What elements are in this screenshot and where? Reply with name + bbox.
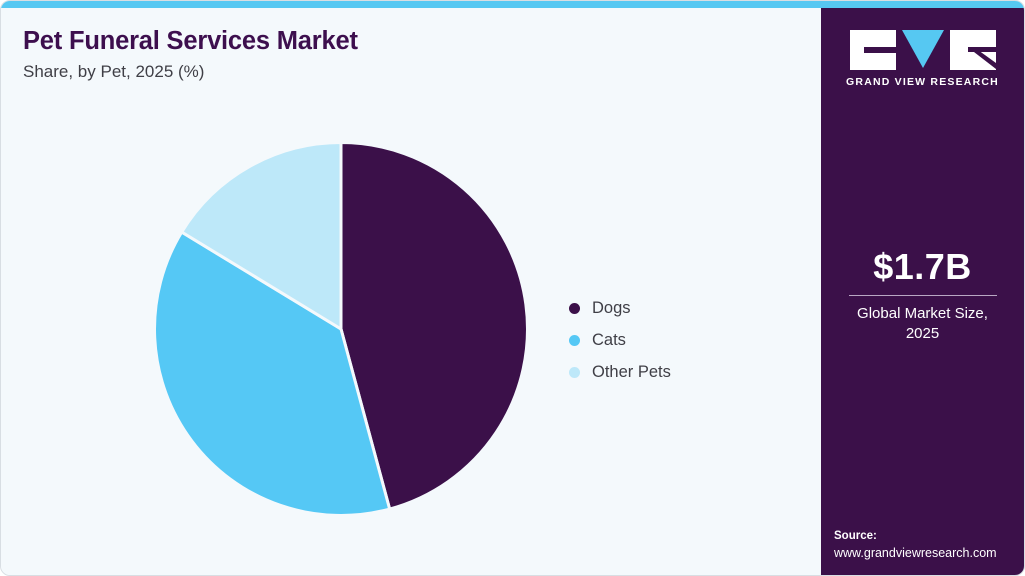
- stat-value: $1.7B: [821, 248, 1024, 286]
- stat-caption: Global Market Size, 2025: [821, 304, 1024, 345]
- legend-item-cats[interactable]: Cats: [569, 324, 789, 356]
- page-title: Pet Funeral Services Market: [23, 27, 723, 56]
- title-block: Pet Funeral Services Market Share, by Pe…: [23, 27, 723, 83]
- brand-side-panel: GRAND VIEW RESEARCH $1.7B Global Market …: [821, 8, 1024, 576]
- pie-chart: [153, 141, 529, 517]
- stat-divider: [849, 295, 997, 296]
- top-accent-bar: [1, 1, 1025, 8]
- legend-item-other-pets[interactable]: Other Pets: [569, 356, 789, 388]
- chart-main-area: Pet Funeral Services Market Share, by Pe…: [1, 8, 823, 576]
- legend-label: Dogs: [592, 300, 631, 317]
- legend-swatch-icon: [569, 367, 580, 378]
- page-subtitle: Share, by Pet, 2025 (%): [23, 62, 723, 82]
- pie-chart-svg: [153, 141, 529, 517]
- source-label: Source:: [834, 528, 1024, 545]
- legend-swatch-icon: [569, 335, 580, 346]
- brand-wordmark: GRAND VIEW RESEARCH: [821, 77, 1024, 88]
- legend-swatch-icon: [569, 303, 580, 314]
- chart-legend: Dogs Cats Other Pets: [569, 292, 789, 388]
- market-size-stat: $1.7B Global Market Size, 2025: [821, 248, 1024, 344]
- brand-logo: GRAND VIEW RESEARCH: [821, 30, 1024, 88]
- legend-label: Other Pets: [592, 364, 671, 381]
- gvr-logo-icon: [850, 30, 996, 70]
- pie-slices: [155, 143, 528, 516]
- legend-label: Cats: [592, 332, 626, 349]
- source-footer: Source: www.grandviewresearch.com: [834, 528, 1024, 561]
- infographic-card: Pet Funeral Services Market Share, by Pe…: [0, 0, 1025, 576]
- source-url[interactable]: www.grandviewresearch.com: [834, 545, 1024, 561]
- legend-item-dogs[interactable]: Dogs: [569, 292, 789, 324]
